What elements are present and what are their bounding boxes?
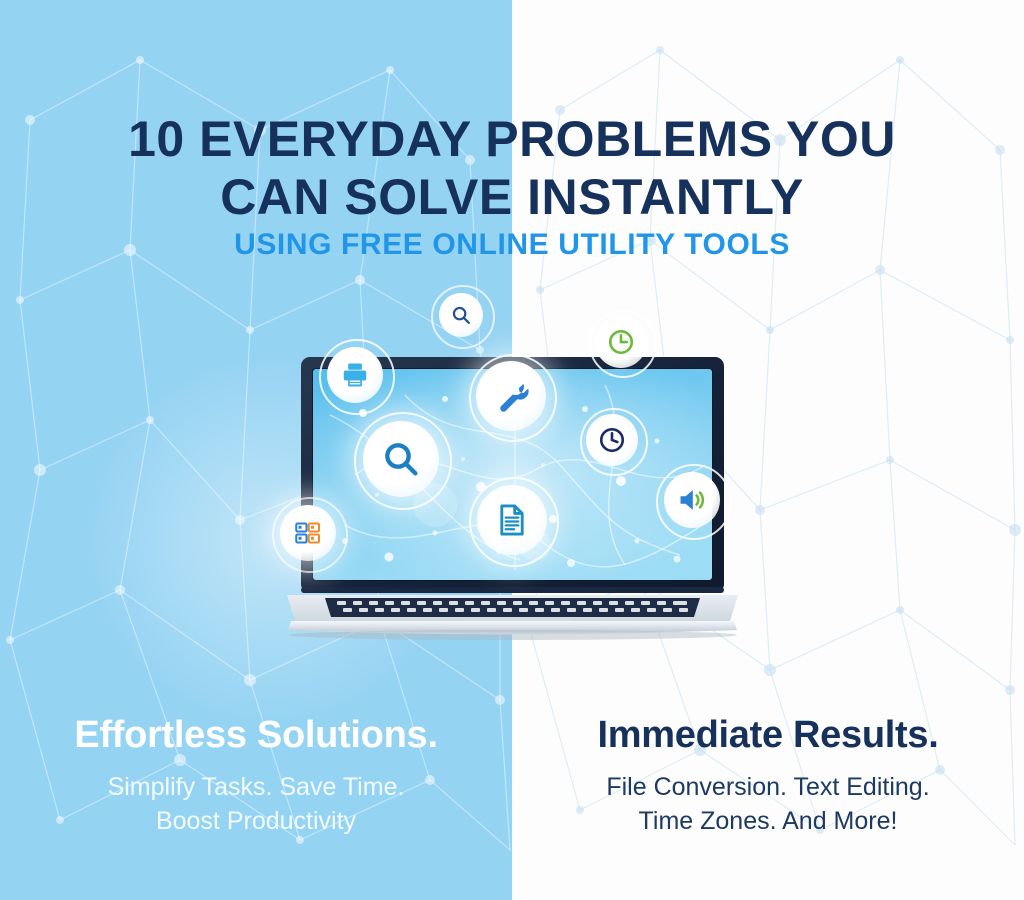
tagline-left-title: Effortless Solutions. xyxy=(10,712,502,758)
search-large-icon[interactable] xyxy=(363,421,439,497)
page-subtitle: USING FREE ONLINE UTILITY TOOLS xyxy=(0,228,1024,262)
tagline-left-line1: Simplify Tasks. Save Time. xyxy=(10,770,502,804)
clock-navy-icon[interactable] xyxy=(586,414,638,466)
search-small-icon[interactable] xyxy=(439,293,483,337)
document-icon[interactable] xyxy=(477,485,547,555)
page-title: 10 EVERYDAY PROBLEMS YOU CAN SOLVE INSTA… xyxy=(0,110,1024,226)
tagline-right-line1: File Conversion. Text Editing. xyxy=(522,770,1014,804)
wrench-icon[interactable] xyxy=(476,361,546,431)
image-grid-icon[interactable] xyxy=(280,505,336,561)
headline-line-1: 10 EVERYDAY PROBLEMS YOU xyxy=(0,110,1024,168)
infographic-poster: 10 EVERYDAY PROBLEMS YOU CAN SOLVE INSTA… xyxy=(0,0,1024,900)
printer-icon[interactable] xyxy=(327,347,383,403)
speaker-icon[interactable] xyxy=(664,472,720,528)
clock-green-icon[interactable] xyxy=(595,316,647,368)
tagline-right-line2: Time Zones. And More! xyxy=(522,804,1014,838)
tagline-left-line2: Boost Productivity xyxy=(10,804,502,838)
headline-line-2: CAN SOLVE INSTANTLY xyxy=(0,168,1024,226)
tagline-left: Effortless Solutions. Simplify Tasks. Sa… xyxy=(10,712,502,838)
tagline-right: Immediate Results. File Conversion. Text… xyxy=(522,712,1014,838)
tagline-right-title: Immediate Results. xyxy=(522,712,1014,758)
